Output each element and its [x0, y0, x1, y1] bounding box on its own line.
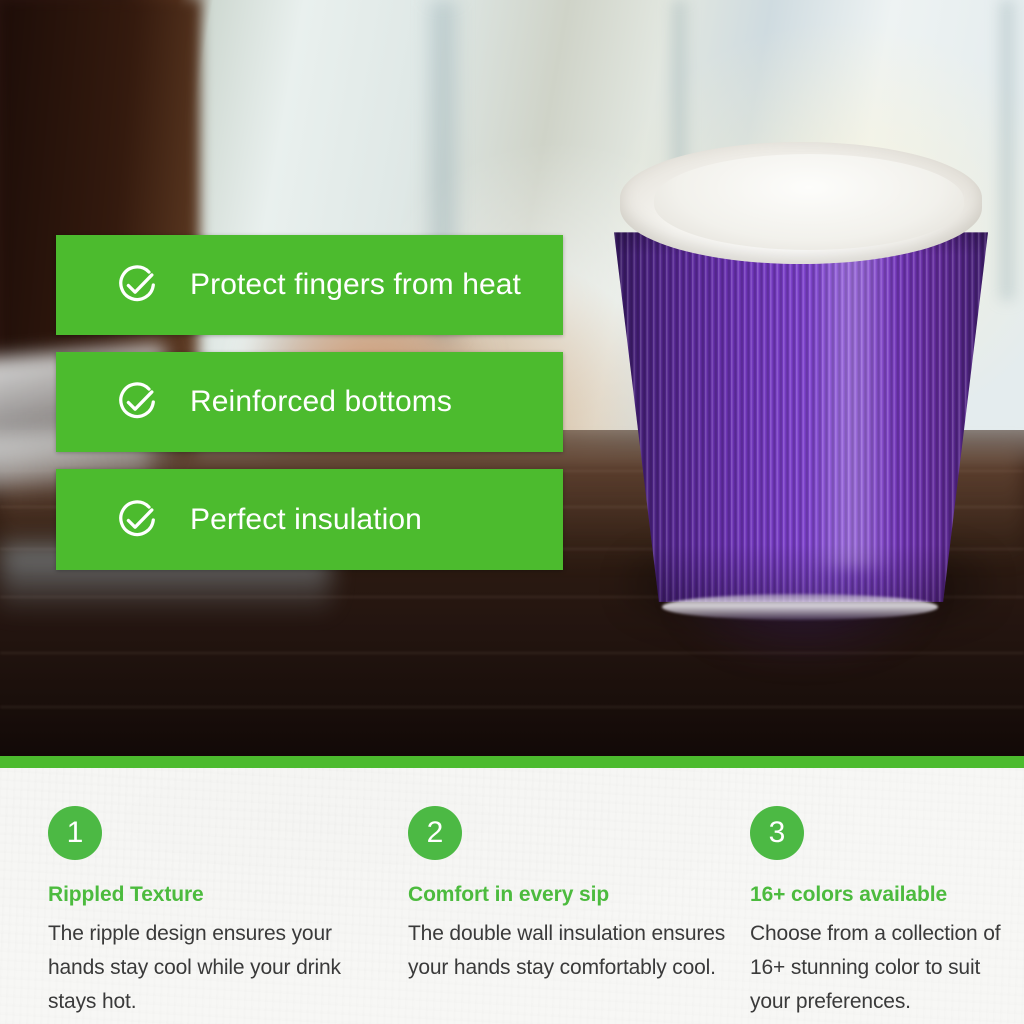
cup-body — [614, 208, 988, 614]
benefits-panel: 1 Rippled Texture The ripple design ensu… — [0, 768, 1024, 1024]
cup-interior — [654, 154, 964, 250]
feature-bar-3: Perfect insulation — [56, 469, 563, 570]
cup-base-rim — [662, 594, 938, 620]
check-circle-icon — [114, 379, 160, 425]
wood-grain-line — [0, 706, 1024, 708]
product-marketing-image: Protect fingers from heat Reinforced bot… — [0, 0, 1024, 1024]
benefit-heading: Rippled Texture — [48, 883, 378, 907]
cup-highlight — [810, 238, 896, 568]
feature-label: Perfect insulation — [190, 503, 422, 537]
benefit-heading: 16+ colors available — [750, 883, 1020, 907]
benefit-column-3: 3 16+ colors available Choose from a col… — [750, 806, 1020, 1019]
check-circle-icon — [114, 262, 160, 308]
benefit-body: Choose from a collection of 16+ stunning… — [750, 917, 1020, 1019]
step-badge-2: 2 — [408, 806, 462, 860]
feature-label: Reinforced bottoms — [190, 385, 452, 419]
benefit-column-2: 2 Comfort in every sip The double wall i… — [408, 806, 738, 985]
benefit-body: The ripple design ensures your hands sta… — [48, 917, 378, 1019]
window-mullion-right — [1000, 0, 1014, 300]
step-badge-3: 3 — [750, 806, 804, 860]
cup-white-rim — [620, 142, 982, 264]
benefit-heading: Comfort in every sip — [408, 883, 738, 907]
benefit-column-1: 1 Rippled Texture The ripple design ensu… — [48, 806, 378, 1019]
hero-photo-section: Protect fingers from heat Reinforced bot… — [0, 0, 1024, 756]
benefit-body: The double wall insulation ensures your … — [408, 917, 738, 985]
step-badge-1: 1 — [48, 806, 102, 860]
feature-label: Protect fingers from heat — [190, 268, 521, 302]
feature-bar-1: Protect fingers from heat — [56, 235, 563, 335]
feature-bar-2: Reinforced bottoms — [56, 352, 563, 452]
purple-rippled-cup — [612, 142, 990, 650]
check-circle-icon — [114, 497, 160, 543]
green-divider — [0, 756, 1024, 768]
